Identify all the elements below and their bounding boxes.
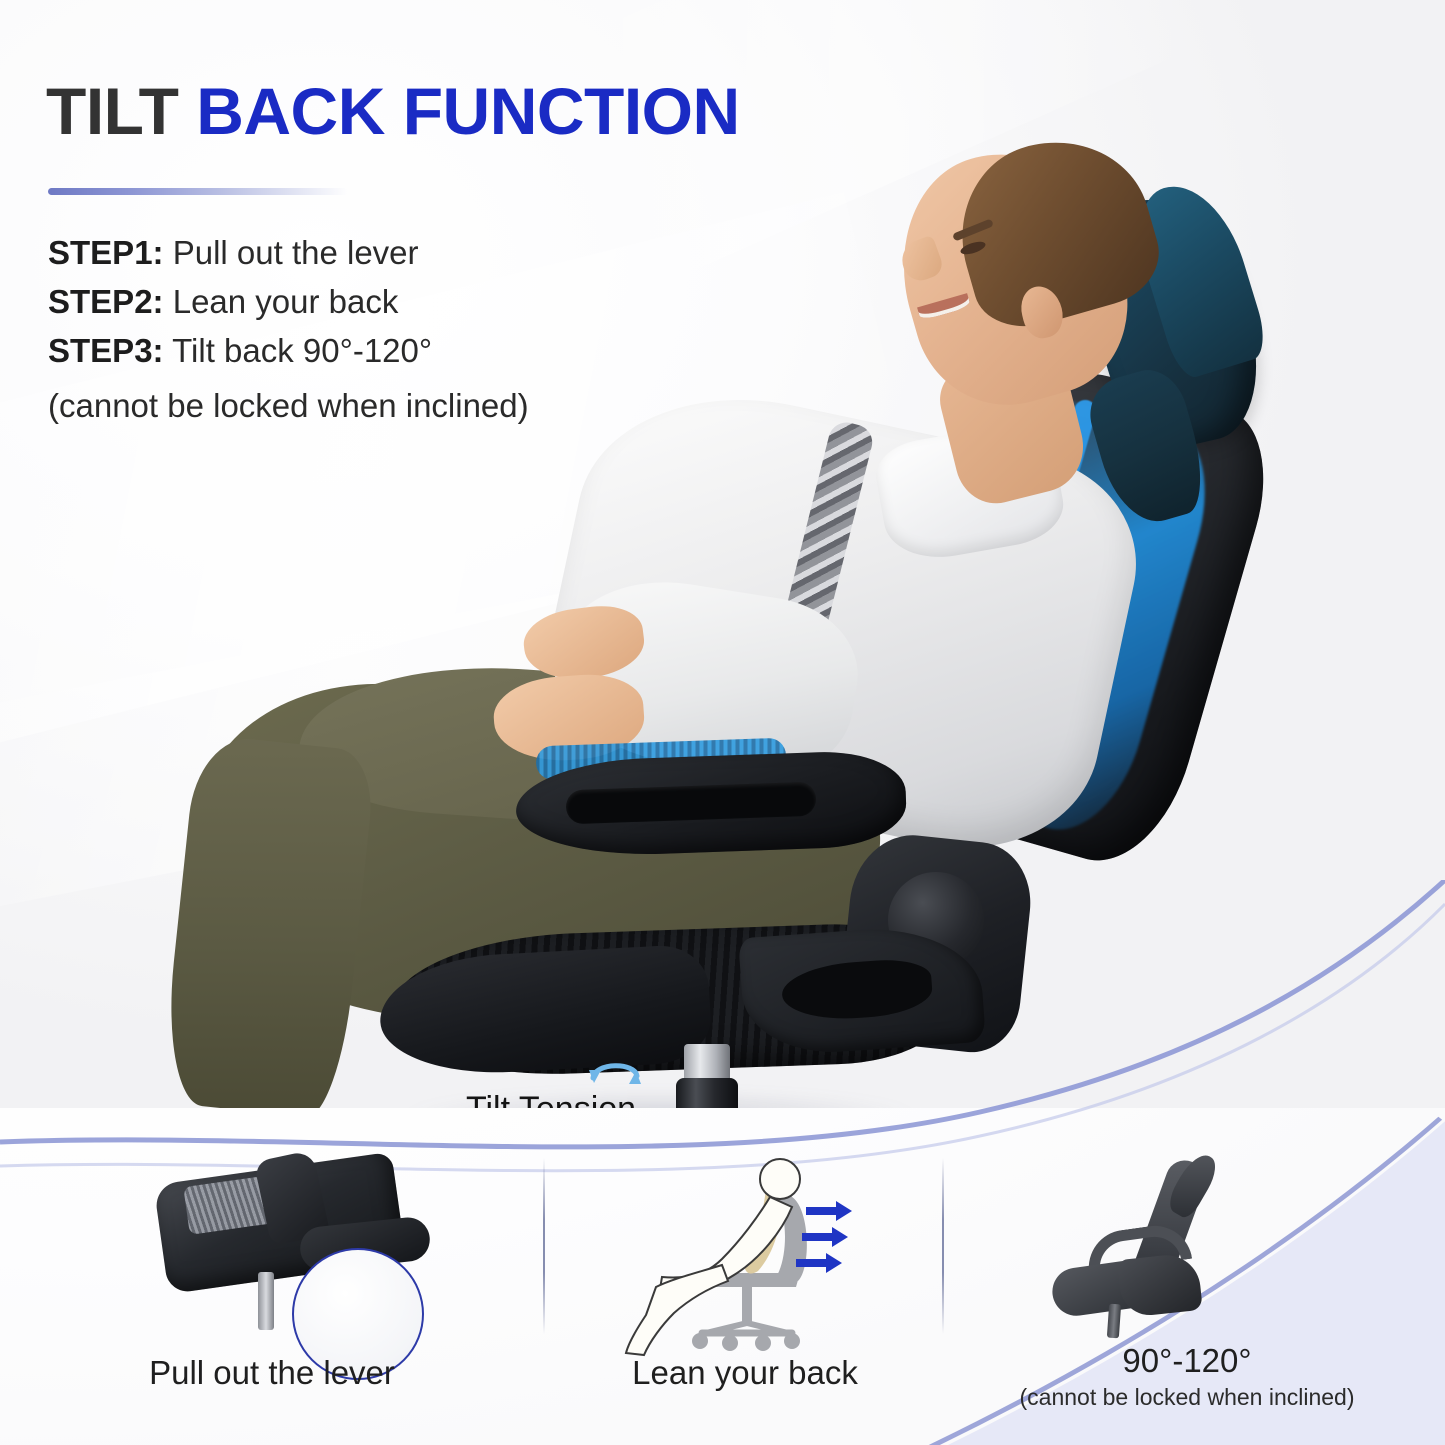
chair-underside-column bbox=[258, 1272, 274, 1330]
diagram-caster bbox=[722, 1335, 738, 1351]
diagram-recline-arrows bbox=[796, 1201, 852, 1273]
lower-leg bbox=[159, 734, 377, 1121]
steps-list: STEP1: Pull out the lever STEP2: Lean yo… bbox=[48, 228, 529, 430]
diagram-legs bbox=[626, 1265, 728, 1355]
caption-3-text: 90°-120° bbox=[952, 1340, 1422, 1382]
diagram-chair-column bbox=[742, 1287, 752, 1325]
caption-3-subtext: (cannot be locked when inclined) bbox=[952, 1382, 1422, 1412]
diagram-caster bbox=[784, 1333, 800, 1349]
diagram-caster bbox=[755, 1335, 771, 1351]
reclined-chair-column bbox=[1107, 1304, 1121, 1339]
page-title-part2: BACK FUNCTION bbox=[196, 74, 739, 148]
infographic-canvas: Tilt Tension TILT BACK FUNCTION STEP1: P… bbox=[0, 0, 1445, 1445]
caption-2-text: Lean your back bbox=[560, 1352, 930, 1394]
thumbnail-lean-back-diagram bbox=[600, 1155, 900, 1360]
caption-1-text: Pull out the lever bbox=[42, 1352, 502, 1394]
step-label-3: STEP3: bbox=[48, 332, 164, 369]
step-text-3: Tilt back 90°-120° bbox=[164, 332, 433, 369]
title-divider bbox=[48, 188, 348, 195]
page-title-part1: TILT bbox=[46, 74, 196, 148]
caption-1: Pull out the lever bbox=[42, 1352, 502, 1394]
page-title: TILT BACK FUNCTION bbox=[46, 78, 740, 144]
steps-note: (cannot be locked when inclined) bbox=[48, 381, 529, 430]
diagram-head bbox=[760, 1159, 800, 1199]
step-item-3: STEP3: Tilt back 90°-120° bbox=[48, 326, 529, 375]
panel-separator-2 bbox=[942, 1158, 944, 1334]
rotation-arrow-icon bbox=[585, 1052, 645, 1094]
step-item-2: STEP2: Lean your back bbox=[48, 277, 529, 326]
step-label-1: STEP1: bbox=[48, 234, 164, 271]
hero-photo-man-in-chair bbox=[0, 0, 1445, 1180]
caption-3: 90°-120° (cannot be locked when inclined… bbox=[952, 1340, 1422, 1412]
step-label-2: STEP2: bbox=[48, 283, 164, 320]
step-item-1: STEP1: Pull out the lever bbox=[48, 228, 529, 277]
step-text-2: Lean your back bbox=[164, 283, 399, 320]
panel-separator-1 bbox=[543, 1158, 545, 1334]
caption-2: Lean your back bbox=[560, 1352, 930, 1394]
step-text-1: Pull out the lever bbox=[164, 234, 419, 271]
diagram-caster bbox=[692, 1333, 708, 1349]
